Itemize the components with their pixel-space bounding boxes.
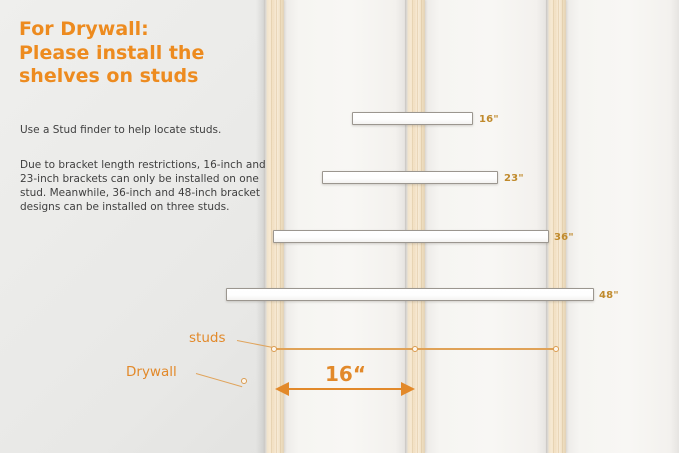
title-line-3: shelves on studs [19,65,259,89]
stud-3 [546,0,566,453]
stud-finder-tip: Use a Stud finder to help locate studs. [20,124,221,138]
bracket-bar-16 [352,112,473,125]
page-title: For Drywall: Please install the shelves … [19,18,259,89]
studs-callout-label: studs [189,330,226,346]
spacing-arrow-right-icon [401,382,415,396]
bracket-label-48: 48" [599,290,619,301]
bracket-label-36: 36" [554,232,574,243]
wall-panel-far-right [566,0,679,453]
spacing-arrow-left-icon [275,382,289,396]
stud-spacing-dimension-line [288,388,401,390]
stud-node-2 [412,346,418,352]
bracket-bar-36 [273,230,549,243]
bracket-restriction-paragraph: Due to bracket length restrictions, 16-i… [20,158,268,214]
bracket-label-23: 23" [504,173,524,184]
stud-spacing-label: 16“ [325,362,366,386]
drywall-shelf-installation-diagram: For Drywall: Please install the shelves … [0,0,679,453]
title-line-2: Please install the [19,42,259,66]
bracket-bar-48 [226,288,594,301]
drywall-callout-label: Drywall [126,364,177,380]
bracket-label-16: 16" [479,114,499,125]
title-line-1: For Drywall: [19,18,259,42]
drywall-node [241,378,247,384]
stud-node-3 [553,346,559,352]
bracket-bar-23 [322,171,498,184]
wall-panel-right-middle [425,0,546,453]
stud-node-1 [271,346,277,352]
